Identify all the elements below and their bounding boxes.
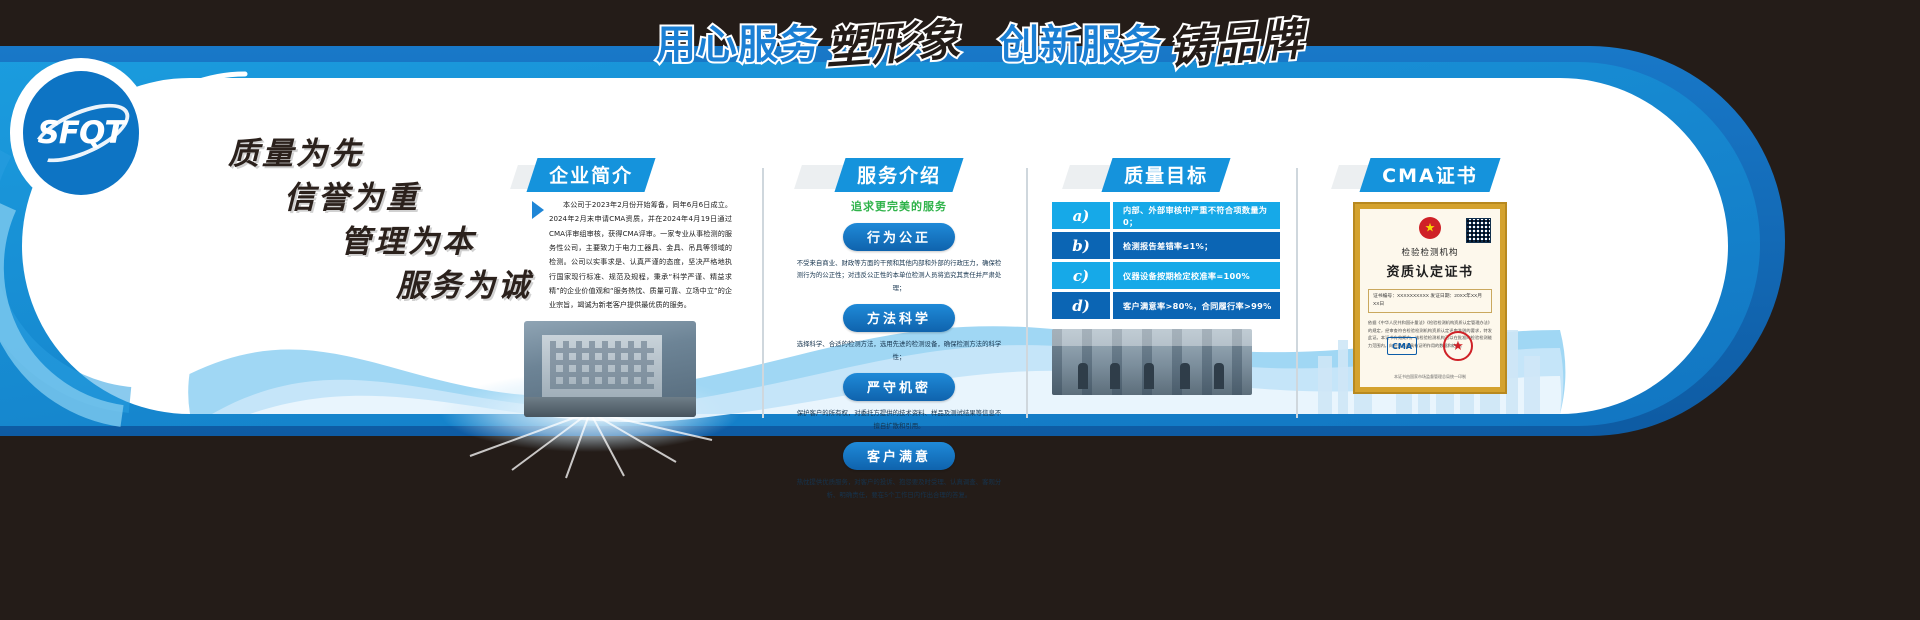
table-row: c) 仪器设备按期检定校准率=100%	[1052, 262, 1280, 289]
cma-title-banner: CMA证书	[1360, 158, 1501, 192]
panel-divider-3	[1296, 168, 1298, 418]
service-item: 客户满意 热忱提供优质服务，对客户的投诉、抱怨要及时受理、认真调查、客观分析、明…	[790, 442, 1008, 508]
service-title-banner: 服务介绍	[834, 158, 963, 192]
panel-cma-certificate: CMA证书 检验检测机构 资质认定证书 证书编号：XXXXXXXXXX 发证日期…	[1325, 158, 1535, 392]
certificate-name: 资质认定证书	[1386, 261, 1473, 280]
table-row: a) 内部、外部审核中严重不符合项数量为0；	[1052, 202, 1280, 229]
service-desc-3: 保护客户的所有权，对委托方提供的技术资料、样品及测试结果等信息不擅自扩散和引用。	[790, 401, 1008, 439]
service-pill-4[interactable]: 客户满意	[843, 442, 955, 470]
national-emblem-icon	[1419, 217, 1441, 239]
cma-ribbon: CMA证书	[1325, 158, 1535, 188]
road-shape	[524, 397, 696, 417]
headline-segment-3: 创新服务	[999, 25, 1163, 65]
company-logo: SFQT	[10, 58, 152, 208]
quality-value-b: 检测报告差错率≤1%；	[1113, 232, 1280, 259]
panel-quality-objectives: 质量目标 a) 内部、外部审核中严重不符合项数量为0； b) 检测报告差错率≤1…	[1052, 158, 1280, 395]
service-item: 行为公正 不受来自商业、财政等方面的干预和其他内部和外部的行政压力，确保检测行为…	[790, 223, 1008, 301]
logo-text: SFQT	[37, 115, 124, 151]
quality-value-c: 仪器设备按期检定校准率=100%	[1113, 262, 1280, 289]
cma-mark-icon: CMA	[1387, 337, 1417, 355]
quality-title-banner: 质量目标	[1101, 158, 1230, 192]
table-row: b) 检测报告差错率≤1%；	[1052, 232, 1280, 259]
person-silhouette	[1110, 363, 1120, 389]
panel-divider-1	[762, 168, 764, 418]
person-silhouette	[1078, 363, 1088, 389]
person-silhouette	[1214, 363, 1224, 389]
person-silhouette	[1180, 363, 1190, 389]
certificate-footer: 本证书由国家市场监督管理总局统一印制	[1360, 374, 1500, 380]
panel-divider-2	[1026, 168, 1028, 418]
headline-segment-1: 用心服务	[656, 25, 820, 65]
service-desc-4: 热忱提供优质服务，对客户的投诉、抱怨要及时受理、认真调查、客观分析、明确责任，要…	[790, 470, 1008, 508]
quality-value-a: 内部、外部审核中严重不符合项数量为0；	[1113, 202, 1280, 229]
quality-lab-photo	[1052, 329, 1252, 395]
quality-key-c: c)	[1052, 262, 1110, 289]
quality-key-b: b)	[1052, 232, 1110, 259]
certificate-marks: CMA ★	[1360, 331, 1500, 361]
slogan-line-1: 质量为先	[228, 132, 532, 176]
profile-body: 本公司于2023年2月份开始筹备，同年6月6日成立。2024年2月末申请CMA资…	[532, 198, 732, 313]
wall-display-stage: 用心服务 塑形象 创新服务 铸品牌 SFQT 质量为先 信誉为重 管理为本 服务…	[0, 0, 1920, 620]
cma-title: CMA证书	[1382, 161, 1478, 188]
qr-code-icon	[1466, 218, 1491, 243]
quality-objective-table: a) 内部、外部审核中严重不符合项数量为0； b) 检测报告差错率≤1%； c)…	[1052, 202, 1280, 319]
quality-key-d: d)	[1052, 292, 1110, 319]
service-pill-1[interactable]: 行为公正	[843, 223, 955, 251]
panel-service-introduction: 服务介绍 追求更完美的服务 行为公正 不受来自商业、财政等方面的干预和其他内部和…	[790, 158, 1008, 511]
person-silhouette	[1144, 363, 1154, 389]
profile-title: 企业简介	[549, 161, 633, 188]
certificate-meta: 证书编号：XXXXXXXXXX 发证日期：20XX年XX月XX日	[1368, 289, 1492, 313]
service-pill-3[interactable]: 严守机密	[843, 373, 955, 401]
quality-title: 质量目标	[1124, 161, 1208, 188]
service-pill-2[interactable]: 方法科学	[843, 304, 955, 332]
decorative-dot	[150, 256, 165, 271]
profile-title-banner: 企业简介	[526, 158, 655, 192]
slogan-line-4: 服务为诚	[396, 264, 532, 308]
profile-paragraph: 本公司于2023年2月份开始筹备，同年6月6日成立。2024年2月末申请CMA资…	[549, 198, 732, 313]
headline-segment-4: 铸品牌	[1168, 18, 1306, 71]
service-subtitle: 追求更完美的服务	[790, 198, 1008, 214]
logo-circle: SFQT	[23, 71, 139, 195]
slogan-block: 质量为先 信誉为重 管理为本 服务为诚	[228, 132, 532, 308]
service-desc-1: 不受来自商业、财政等方面的干预和其他内部和外部的行政压力，确保检测行为的公正性；…	[790, 251, 1008, 301]
service-item: 严守机密 保护客户的所有权，对委托方提供的技术资料、样品及测试结果等信息不擅自扩…	[790, 373, 1008, 439]
service-desc-2: 选择科学、合适的检测方法，选用先进的检测设备，确保检测方法的科学性；	[790, 332, 1008, 370]
quality-ribbon: 质量目标	[1052, 158, 1280, 188]
slogan-line-3: 管理为本	[340, 220, 532, 264]
slogan-line-2: 信誉为重	[284, 176, 532, 220]
panel-company-profile: 企业简介 本公司于2023年2月份开始筹备，同年6月6日成立。2024年2月末申…	[532, 158, 732, 417]
profile-building-photo	[524, 321, 696, 417]
service-title: 服务介绍	[857, 161, 941, 188]
headline-segment-2: 塑形象	[825, 18, 963, 71]
quality-key-a: a)	[1052, 202, 1110, 229]
headline: 用心服务 塑形象 创新服务 铸品牌	[640, 14, 1320, 76]
play-arrow-icon	[532, 201, 544, 219]
profile-ribbon: 企业简介	[532, 158, 732, 188]
quality-value-d: 客户满意率>80%，合同履行率>99%	[1113, 292, 1280, 319]
cma-certificate-image: 检验检测机构 资质认定证书 证书编号：XXXXXXXXXX 发证日期：20XX年…	[1355, 204, 1505, 392]
service-item: 方法科学 选择科学、合适的检测方法，选用先进的检测设备，确保检测方法的科学性；	[790, 304, 1008, 370]
certificate-org: 检验检测机构	[1401, 246, 1458, 258]
table-row: d) 客户满意率>80%，合同履行率>99%	[1052, 292, 1280, 319]
red-seal-icon: ★	[1443, 331, 1473, 361]
service-ribbon: 服务介绍	[790, 158, 1008, 188]
